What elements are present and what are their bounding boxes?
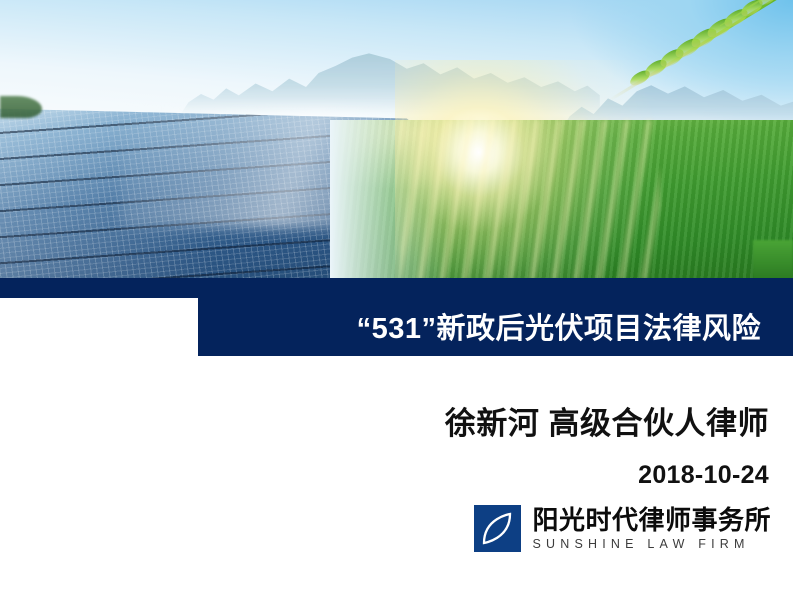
leaf-lens-icon	[474, 505, 521, 552]
grass-edge	[753, 240, 793, 280]
presentation-date: 2018-10-24	[638, 461, 769, 490]
navy-top-strip	[0, 278, 793, 298]
title-banner: “531”新政后光伏项目法律风险	[198, 296, 793, 356]
hero-image	[0, 0, 793, 280]
firm-logo: 阳光时代律师事务所 SUNSHINE LAW FIRM	[474, 505, 771, 552]
firm-name-cn: 阳光时代律师事务所	[532, 507, 771, 533]
page-title: “531”新政后光伏项目法律风险	[198, 296, 761, 356]
sun-rays	[400, 120, 660, 280]
leaf-lens-glyph	[474, 505, 521, 552]
slide-root: “531”新政后光伏项目法律风险 徐新河 高级合伙人律师 2018-10-24 …	[0, 0, 793, 595]
firm-name-en: SUNSHINE LAW FIRM	[532, 538, 749, 551]
presenter-name: 徐新河 高级合伙人律师	[445, 398, 769, 443]
firm-name-block: 阳光时代律师事务所 SUNSHINE LAW FIRM	[532, 507, 771, 551]
